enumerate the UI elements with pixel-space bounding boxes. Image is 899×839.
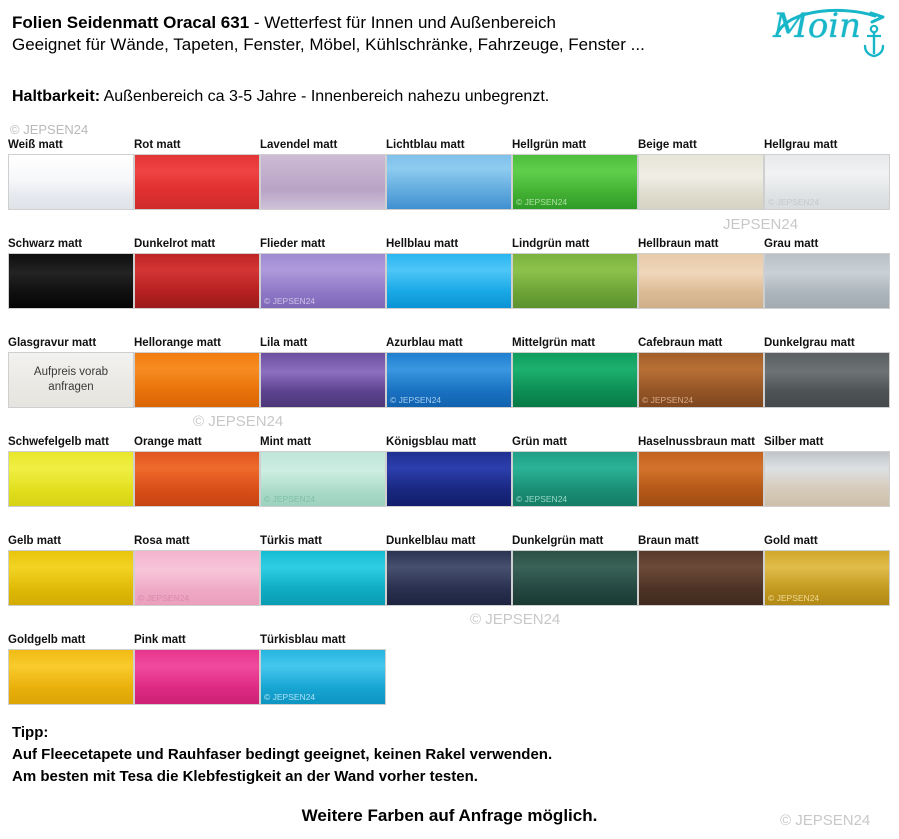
swatch-label: Haselnussbraun matt	[638, 435, 764, 451]
swatch-cell[interactable]: Türkis matt	[260, 534, 386, 606]
swatch-chip[interactable]	[512, 352, 638, 408]
swatch-chip[interactable]	[764, 352, 890, 408]
header: Folien Seidenmatt Oracal 631 - Wetterfes…	[12, 12, 772, 56]
swatch-label: Cafebraun matt	[638, 336, 764, 352]
swatch-cell[interactable]: Pink matt	[134, 633, 260, 705]
swatch-cell[interactable]: Schwefelgelb matt	[8, 435, 134, 507]
swatch-row: Schwefelgelb mattOrange mattMint matt© J…	[8, 435, 892, 534]
swatch-row: Schwarz mattDunkelrot mattFlieder matt© …	[8, 237, 892, 336]
chip-watermark: © JEPSEN24	[768, 197, 819, 207]
swatch-label: Rot matt	[134, 138, 260, 154]
swatch-label: Grün matt	[512, 435, 638, 451]
swatch-chip[interactable]: © JEPSEN24	[260, 451, 386, 507]
swatch-cell[interactable]: Grün matt© JEPSEN24	[512, 435, 638, 507]
glasgravur-note: Aufpreis vorabanfragen	[9, 365, 133, 395]
swatch-cell[interactable]: Mittelgrün matt	[512, 336, 638, 408]
swatch-chip[interactable]	[134, 649, 260, 705]
swatch-label: Schwefelgelb matt	[8, 435, 134, 451]
swatch-chip[interactable]	[134, 154, 260, 210]
swatch-label: Mittelgrün matt	[512, 336, 638, 352]
swatch-chip[interactable]: © JEPSEN24	[512, 451, 638, 507]
swatch-chip[interactable]	[260, 550, 386, 606]
swatch-chip[interactable]	[638, 451, 764, 507]
swatch-chip[interactable]	[8, 253, 134, 309]
swatch-cell[interactable]: Hellgrau matt© JEPSEN24	[764, 138, 890, 210]
moin-wordmark: Moin	[773, 6, 861, 46]
swatch-cell[interactable]: Azurblau matt© JEPSEN24	[386, 336, 512, 408]
swatch-cell[interactable]: Hellbraun matt	[638, 237, 764, 309]
swatch-cell[interactable]: Lindgrün matt	[512, 237, 638, 309]
swatch-cell[interactable]: Glasgravur mattAufpreis vorabanfragen	[8, 336, 134, 408]
swatch-cell[interactable]: Flieder matt© JEPSEN24	[260, 237, 386, 309]
header-title-bold: Folien Seidenmatt Oracal 631	[12, 13, 249, 32]
swatch-chip[interactable]	[638, 253, 764, 309]
swatch-cell[interactable]: Beige matt	[638, 138, 764, 210]
swatch-chip[interactable]	[638, 550, 764, 606]
swatch-label: Dunkelgrau matt	[764, 336, 890, 352]
swatch-row: Weiß mattRot mattLavendel mattLichtblau …	[8, 138, 892, 237]
swatch-cell[interactable]: Lila matt	[260, 336, 386, 408]
swatch-label: Mint matt	[260, 435, 386, 451]
swatch-label: Türkis matt	[260, 534, 386, 550]
swatch-chip[interactable]	[8, 649, 134, 705]
swatch-chip[interactable]	[8, 154, 134, 210]
swatch-label: Gelb matt	[8, 534, 134, 550]
swatch-label: Lila matt	[260, 336, 386, 352]
swatch-chip[interactable]: © JEPSEN24	[764, 154, 890, 210]
swatch-cell[interactable]: Dunkelgrau matt	[764, 336, 890, 408]
swatch-label: Hellbraun matt	[638, 237, 764, 253]
swatch-cell[interactable]: Lavendel matt	[260, 138, 386, 210]
swatch-label: Hellgrau matt	[764, 138, 890, 154]
chip-watermark: © JEPSEN24	[516, 197, 567, 207]
swatch-label: Dunkelgrün matt	[512, 534, 638, 550]
swatch-chip[interactable]	[512, 550, 638, 606]
swatch-label: Flieder matt	[260, 237, 386, 253]
swatch-chip[interactable]: © JEPSEN24	[260, 649, 386, 705]
chip-watermark: © JEPSEN24	[516, 494, 567, 504]
swatch-cell[interactable]: Dunkelblau matt	[386, 534, 512, 606]
watermark-top-left: © JEPSEN24	[10, 122, 88, 137]
swatch-cell[interactable]: Hellorange matt	[134, 336, 260, 408]
swatch-cell[interactable]: Dunkelrot matt	[134, 237, 260, 309]
swatch-cell[interactable]: Orange matt	[134, 435, 260, 507]
swatch-label: Orange matt	[134, 435, 260, 451]
swatch-chip[interactable]: Aufpreis vorabanfragen	[8, 352, 134, 408]
swatch-label: Dunkelrot matt	[134, 237, 260, 253]
swatch-label: Hellgrün matt	[512, 138, 638, 154]
swatch-chip[interactable]	[8, 451, 134, 507]
color-chart-page: Folien Seidenmatt Oracal 631 - Wetterfes…	[0, 0, 899, 839]
tipp-line-2: Am besten mit Tesa die Klebfestigkeit an…	[12, 766, 552, 788]
moin-logo: Moin	[771, 4, 891, 66]
swatch-label: Dunkelblau matt	[386, 534, 512, 550]
swatch-chip[interactable]: © JEPSEN24	[134, 550, 260, 606]
chip-watermark: © JEPSEN24	[138, 593, 189, 603]
swatch-chip[interactable]	[386, 550, 512, 606]
swatch-chip[interactable]: © JEPSEN24	[638, 352, 764, 408]
swatch-cell[interactable]: Dunkelgrün matt	[512, 534, 638, 606]
swatch-cell[interactable]: Königsblau matt	[386, 435, 512, 507]
chip-watermark: © JEPSEN24	[264, 494, 315, 504]
swatch-label: Gold matt	[764, 534, 890, 550]
swatch-chip[interactable]	[260, 154, 386, 210]
chip-watermark: © JEPSEN24	[264, 692, 315, 702]
swatch-cell[interactable]: Cafebraun matt© JEPSEN24	[638, 336, 764, 408]
swatch-label: Glasgravur matt	[8, 336, 134, 352]
swatch-chip[interactable]: © JEPSEN24	[764, 550, 890, 606]
footer-closing: Weitere Farben auf Anfrage möglich.	[0, 806, 899, 826]
swatch-label: Pink matt	[134, 633, 260, 649]
swatch-label: Lavendel matt	[260, 138, 386, 154]
swatch-cell[interactable]: Hellblau matt	[386, 237, 512, 309]
swatch-label: Hellblau matt	[386, 237, 512, 253]
swatch-cell[interactable]: Gelb matt	[8, 534, 134, 606]
swatch-label: Schwarz matt	[8, 237, 134, 253]
swatch-cell[interactable]: Grau matt	[764, 237, 890, 309]
swatch-label: Beige matt	[638, 138, 764, 154]
swatch-chip[interactable]	[386, 253, 512, 309]
header-title-line: Folien Seidenmatt Oracal 631 - Wetterfes…	[12, 12, 772, 34]
swatch-chip[interactable]	[386, 154, 512, 210]
swatch-chip[interactable]	[638, 154, 764, 210]
swatch-label: Lindgrün matt	[512, 237, 638, 253]
swatch-cell[interactable]: Silber matt	[764, 435, 890, 507]
tipp-line-1: Auf Fleecetapete und Rauhfaser bedingt g…	[12, 744, 552, 766]
durability-line: Haltbarkeit: Außenbereich ca 3-5 Jahre -…	[12, 88, 549, 106]
swatch-chip[interactable]	[764, 451, 890, 507]
footer-tips: Tipp: Auf Fleecetapete und Rauhfaser bed…	[12, 722, 552, 788]
swatch-label: Türkisblau matt	[260, 633, 386, 649]
swatch-grid: Weiß mattRot mattLavendel mattLichtblau …	[8, 138, 892, 732]
swatch-chip[interactable]	[8, 550, 134, 606]
swatch-label: Silber matt	[764, 435, 890, 451]
header-title-rest: - Wetterfest für Innen und Außenbereich	[249, 13, 556, 32]
swatch-cell[interactable]: Gold matt© JEPSEN24	[764, 534, 890, 606]
swatch-cell[interactable]: Lichtblau matt	[386, 138, 512, 210]
swatch-label: Königsblau matt	[386, 435, 512, 451]
swatch-chip[interactable]	[386, 451, 512, 507]
swatch-row: Goldgelb mattPink mattTürkisblau matt© J…	[8, 633, 892, 732]
swatch-chip[interactable]	[134, 253, 260, 309]
swatch-chip[interactable]: © JEPSEN24	[260, 253, 386, 309]
chip-watermark: © JEPSEN24	[264, 296, 315, 306]
swatch-label: Goldgelb matt	[8, 633, 134, 649]
header-subtitle: Geeignet für Wände, Tapeten, Fenster, Mö…	[12, 34, 772, 56]
swatch-chip[interactable]	[512, 253, 638, 309]
swatch-label: Rosa matt	[134, 534, 260, 550]
swatch-chip[interactable]	[134, 352, 260, 408]
swatch-row: Glasgravur mattAufpreis vorabanfragenHel…	[8, 336, 892, 435]
swatch-label: Grau matt	[764, 237, 890, 253]
tipp-label: Tipp:	[12, 722, 552, 744]
swatch-cell[interactable]: Mint matt© JEPSEN24	[260, 435, 386, 507]
swatch-cell[interactable]: Rosa matt© JEPSEN24	[134, 534, 260, 606]
swatch-chip[interactable]: © JEPSEN24	[386, 352, 512, 408]
anchor-icon	[861, 24, 887, 58]
swatch-cell[interactable]: Türkisblau matt© JEPSEN24	[260, 633, 386, 705]
swatch-row: Gelb mattRosa matt© JEPSEN24Türkis mattD…	[8, 534, 892, 633]
chip-watermark: © JEPSEN24	[642, 395, 693, 405]
swatch-cell[interactable]: Hellgrün matt© JEPSEN24	[512, 138, 638, 210]
swatch-label: Lichtblau matt	[386, 138, 512, 154]
swatch-chip[interactable]	[134, 451, 260, 507]
swatch-cell[interactable]: Schwarz matt	[8, 237, 134, 309]
swatch-cell[interactable]: Braun matt	[638, 534, 764, 606]
durability-text: Außenbereich ca 3-5 Jahre - Innenbereich…	[100, 88, 549, 105]
swatch-label: Azurblau matt	[386, 336, 512, 352]
swatch-chip[interactable]: © JEPSEN24	[512, 154, 638, 210]
swatch-label: Braun matt	[638, 534, 764, 550]
swatch-cell[interactable]: Goldgelb matt	[8, 633, 134, 705]
chip-watermark: © JEPSEN24	[390, 395, 441, 405]
chip-watermark: © JEPSEN24	[768, 593, 819, 603]
durability-label: Haltbarkeit:	[12, 88, 100, 105]
swatch-cell[interactable]: Haselnussbraun matt	[638, 435, 764, 507]
swatch-chip[interactable]	[764, 253, 890, 309]
swatch-cell[interactable]: Rot matt	[134, 138, 260, 210]
swatch-label: Weiß matt	[8, 138, 134, 154]
swatch-chip[interactable]	[260, 352, 386, 408]
swatch-cell[interactable]: Weiß matt	[8, 138, 134, 210]
swatch-label: Hellorange matt	[134, 336, 260, 352]
